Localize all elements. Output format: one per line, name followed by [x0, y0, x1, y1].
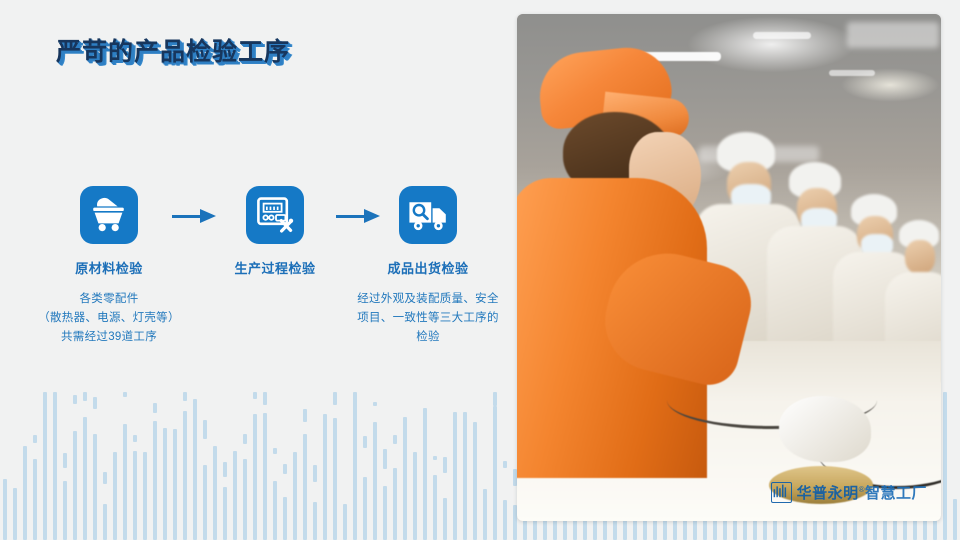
decorative-bar: [243, 459, 247, 540]
decorative-bar: [153, 421, 157, 540]
decorative-bar-segment: [493, 392, 497, 406]
decorative-bar: [283, 497, 287, 540]
process-step-desc-line: 经过外观及装配质量、安全项目、一致性等三大工序的检验: [355, 290, 501, 347]
process-step-finished-goods[interactable]: 成品出货检验 经过外观及装配质量、安全项目、一致性等三大工序的检验: [343, 186, 513, 347]
decorative-bar: [143, 452, 147, 540]
decorative-bar: [313, 502, 317, 540]
decorative-bar: [163, 428, 167, 540]
decorative-bar: [343, 504, 347, 540]
decorative-bar-segment: [263, 392, 267, 405]
decorative-bar: [433, 475, 437, 540]
watermark-text: 华普永明®智慧工厂: [797, 482, 927, 503]
decorative-bar: [303, 434, 307, 540]
decorative-bar: [323, 414, 327, 540]
decorative-bar: [203, 465, 207, 540]
decorative-bar: [103, 504, 107, 540]
decorative-bar: [23, 446, 27, 540]
process-step-title: 成品出货检验: [343, 258, 513, 277]
decorative-bar: [443, 498, 447, 540]
machine-inspection-icon: [246, 186, 304, 244]
decorative-bar: [373, 422, 377, 540]
decorative-bar-segment: [253, 392, 257, 399]
process-step-description: 各类零配件 （散热器、电源、灯壳等） 共需经过39道工序: [24, 290, 194, 347]
decorative-bar: [3, 479, 7, 540]
decorative-bar: [43, 400, 47, 540]
watermark-brand: 华普永明: [797, 485, 859, 502]
decorative-bar: [133, 451, 137, 540]
page-title: 严苛的产品检验工序: [56, 32, 290, 68]
process-step-desc-line: （散热器、电源、灯壳等）: [24, 309, 194, 328]
decorative-bar: [123, 424, 127, 540]
decorative-bar: [63, 481, 67, 540]
decorative-bar: [173, 429, 177, 540]
decorative-bar-segment: [43, 392, 47, 409]
decorative-bar: [463, 412, 467, 540]
decorative-bar: [383, 486, 387, 540]
photo-artwork: [517, 14, 941, 521]
decorative-bar: [263, 413, 267, 540]
decorative-bar-segment: [63, 453, 67, 468]
decorative-bar: [453, 412, 457, 540]
watermark-suffix: 智慧工厂: [865, 485, 927, 502]
process-step-production[interactable]: 生产过程检验: [190, 186, 360, 277]
slide-root: 严苛的产品检验工序 原材料检验 各类零配件 （散热器、电源、灯壳等） 共需经过3…: [0, 0, 960, 540]
decorative-bar: [333, 418, 337, 540]
decorative-bar-segment: [53, 392, 57, 411]
process-step-raw-material[interactable]: 原材料检验 各类零配件 （散热器、电源、灯壳等） 共需经过39道工序: [24, 186, 194, 347]
decorative-bar-segment: [243, 434, 247, 444]
decorative-bar-segment: [503, 461, 507, 468]
decorative-bar-segment: [33, 435, 37, 443]
decorative-bar: [73, 431, 77, 540]
decorative-bar: [403, 417, 407, 540]
decorative-bar: [93, 434, 97, 540]
decorative-bar-segment: [393, 435, 397, 444]
truck-magnifier-icon: [399, 186, 457, 244]
decorative-bar-segment: [73, 395, 77, 404]
decorative-bar: [353, 405, 357, 540]
decorative-bar: [33, 459, 37, 540]
decorative-bar-segment: [433, 456, 437, 460]
decorative-bar-segment: [83, 392, 87, 401]
decorative-bar-segment: [943, 392, 947, 407]
decorative-bar: [363, 477, 367, 540]
decorative-bar-segment: [103, 472, 107, 484]
decorative-bar: [483, 489, 487, 540]
decorative-bar: [183, 411, 187, 540]
decorative-bar: [233, 451, 237, 540]
decorative-bar: [113, 452, 117, 540]
process-step-title: 原材料检验: [24, 258, 194, 277]
decorative-bar-segment: [383, 449, 387, 469]
mine-cart-icon: [80, 186, 138, 244]
decorative-bar: [943, 397, 947, 540]
decorative-bar-segment: [223, 462, 227, 477]
decorative-bar-segment: [93, 397, 97, 409]
decorative-bar: [213, 446, 217, 540]
watermark-logo: 华普永明®智慧工厂: [771, 482, 927, 503]
process-step-desc-line: 各类零配件: [24, 290, 194, 309]
factory-photo: 华普永明®智慧工厂: [517, 14, 941, 521]
decorative-bar-segment: [273, 448, 277, 454]
process-step-description: 经过外观及装配质量、安全项目、一致性等三大工序的检验: [343, 290, 513, 347]
decorative-bar-segment: [363, 436, 367, 448]
decorative-bar: [423, 408, 427, 540]
decorative-bar-segment: [133, 435, 137, 442]
decorative-bar: [293, 452, 297, 540]
decorative-bar: [393, 468, 397, 540]
decorative-bar: [193, 399, 197, 540]
decorative-bar-segment: [153, 403, 157, 413]
decorative-bar-segment: [123, 392, 127, 397]
decorative-bar: [493, 406, 497, 540]
decorative-bar-segment: [283, 464, 287, 474]
decorative-bar: [273, 481, 277, 540]
decorative-bar-segment: [203, 420, 207, 439]
decorative-bar: [413, 452, 417, 540]
decorative-bar: [253, 414, 257, 540]
worker-glove: [779, 396, 871, 462]
decorative-bar: [503, 500, 507, 540]
process-step-title: 生产过程检验: [190, 258, 360, 277]
process-step-desc-line: 共需经过39道工序: [24, 328, 194, 347]
decorative-bar: [223, 487, 227, 540]
decorative-bar: [13, 488, 17, 540]
decorative-bar-segment: [353, 392, 357, 411]
decorative-bar-segment: [373, 402, 377, 406]
decorative-bar-segment: [303, 409, 307, 422]
decorative-bar-segment: [183, 392, 187, 401]
process-flow: 原材料检验 各类零配件 （散热器、电源、灯壳等） 共需经过39道工序: [0, 186, 500, 376]
decorative-bar: [953, 499, 957, 540]
hpym-logo-mark-icon: [771, 482, 792, 503]
decorative-bar-segment: [313, 465, 317, 482]
decorative-bar-segment: [443, 457, 447, 473]
decorative-bar: [53, 408, 57, 540]
decorative-bar-segment: [333, 392, 337, 405]
decorative-bar: [473, 422, 477, 540]
decorative-bar: [83, 417, 87, 540]
